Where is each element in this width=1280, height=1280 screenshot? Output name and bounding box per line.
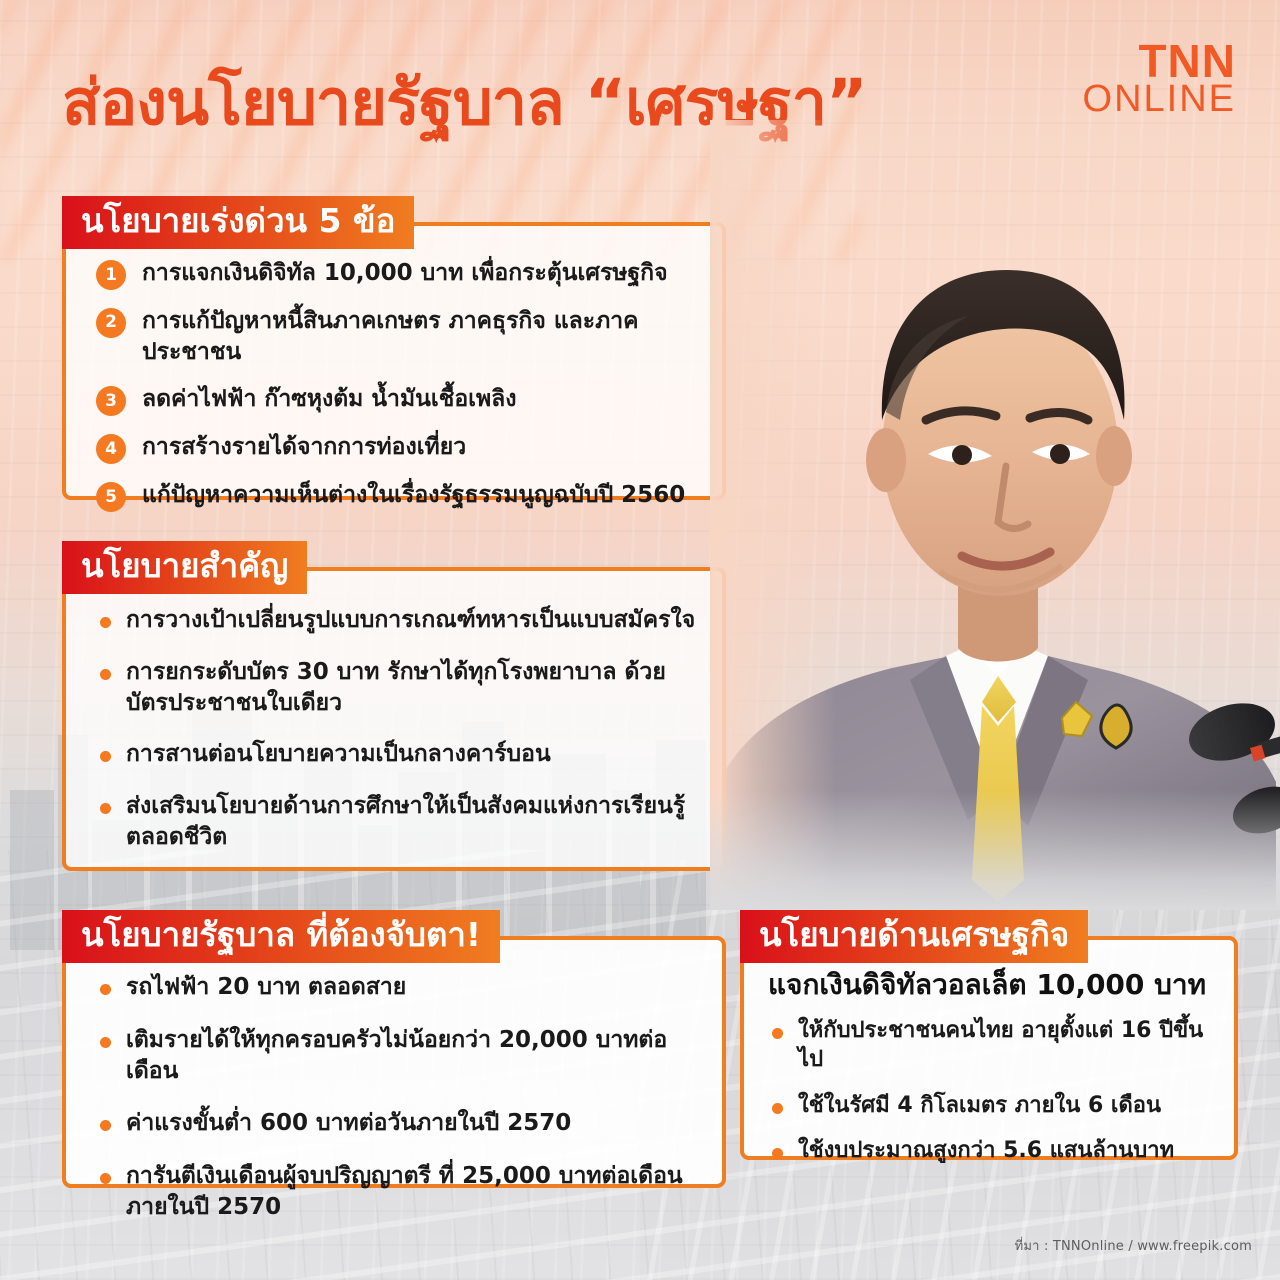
list-item: ใช้งบประมาณสูงกว่า 5.6 แสนล้านบาท: [768, 1136, 1212, 1165]
list-item: ใช้ในรัศมี 4 กิโลเมตร ภายใน 6 เดือน: [768, 1091, 1212, 1120]
list-item: 5 แก้ปัญหาความเห็นต่างในเรื่องรัฐธรรมนูญ…: [96, 480, 700, 511]
list-number: 3: [96, 386, 126, 416]
watch-policy-list: รถไฟฟ้า 20 บาท ตลอดสาย เติมรายได้ให้ทุกค…: [96, 972, 700, 1223]
card-watch-title: นโยบายรัฐบาล ที่ต้องจับตา!: [62, 910, 500, 963]
key-policy-list: การวางเป้าเปลี่ยนรูปแบบการเกณฑ์ทหารเป็นแ…: [96, 605, 700, 853]
page-title-quoted: “เศรษฐา”: [585, 66, 867, 139]
card-key-policies: นโยบายสำคัญ การวางเป้าเปลี่ยนรูปแบบการเก…: [62, 541, 726, 871]
portrait-photo: [710, 120, 1280, 910]
list-item: 1 การแจกเงินดิจิทัล 10,000 บาท เพื่อกระต…: [96, 258, 700, 289]
list-item: ส่งเสริมนโยบายด้านการศึกษาให้เป็นสังคมแห…: [96, 791, 700, 853]
tnn-online-logo: TNN ONLINE: [1083, 40, 1236, 117]
list-text: ลดค่าไฟฟ้า ก๊าซหุงต้ม น้ำมันเชื้อเพลิง: [142, 386, 517, 412]
list-item: การันตีเงินเดือนผู้จบปริญญาตรี ที่ 25,00…: [96, 1161, 700, 1223]
urgent-policy-list: 1 การแจกเงินดิจิทัล 10,000 บาท เพื่อกระต…: [96, 258, 700, 511]
list-number: 5: [96, 482, 126, 512]
card-urgent-policies: นโยบายเร่งด่วน 5 ข้อ 1 การแจกเงินดิจิทัล…: [62, 196, 726, 500]
page-title-main: ส่องนโยบายรัฐบาล: [62, 66, 564, 139]
card-watch-body: รถไฟฟ้า 20 บาท ตลอดสาย เติมรายได้ให้ทุกค…: [62, 910, 726, 1265]
list-text: การแก้ปัญหาหนี้สินภาคเกษตร ภาคธุรกิจ และ…: [142, 308, 639, 365]
logo-line-tnn: TNN: [1083, 40, 1236, 82]
list-item: การวางเป้าเปลี่ยนรูปแบบการเกณฑ์ทหารเป็นแ…: [96, 605, 700, 636]
list-item: รถไฟฟ้า 20 บาท ตลอดสาย: [96, 972, 700, 1003]
list-item: การยกระดับบัตร 30 บาท รักษาได้ทุกโรงพยาบ…: [96, 657, 700, 719]
page-title: ส่องนโยบายรัฐบาล “เศรษฐา”: [62, 52, 867, 152]
econ-lead-text: แจกเงินดิจิทัลวอลเล็ต 10,000 บาท: [768, 968, 1212, 1002]
card-policies-to-watch: นโยบายรัฐบาล ที่ต้องจับตา! รถไฟฟ้า 20 บา…: [62, 910, 726, 1188]
list-text: แก้ปัญหาความเห็นต่างในเรื่องรัฐธรรมนูญฉบ…: [142, 482, 685, 508]
list-item: 2 การแก้ปัญหาหนี้สินภาคเกษตร ภาคธุรกิจ แ…: [96, 306, 700, 368]
list-number: 2: [96, 308, 126, 338]
card-econ-title: นโยบายด้านเศรษฐกิจ: [740, 910, 1088, 963]
list-text: การสร้างรายได้จากการท่องเที่ยว: [142, 434, 466, 460]
infographic-canvas: ส่องนโยบายรัฐบาล “เศรษฐา” TNN ONLINE นโย…: [0, 0, 1280, 1280]
list-number: 1: [96, 260, 126, 290]
econ-policy-list: ให้กับประชาชนคนไทย อายุตั้งแต่ 16 ปีขึ้น…: [768, 1016, 1212, 1166]
logo-line-online: ONLINE: [1083, 82, 1236, 117]
list-item: ให้กับประชาชนคนไทย อายุตั้งแต่ 16 ปีขึ้น…: [768, 1016, 1212, 1075]
list-number: 4: [96, 434, 126, 464]
list-item: 3 ลดค่าไฟฟ้า ก๊าซหุงต้ม น้ำมันเชื้อเพลิง: [96, 384, 700, 415]
list-item: 4 การสร้างรายได้จากการท่องเที่ยว: [96, 432, 700, 463]
card-urgent-title: นโยบายเร่งด่วน 5 ข้อ: [62, 196, 414, 249]
list-item: ค่าแรงขั้นต่ำ 600 บาทต่อวันภายในปี 2570: [96, 1108, 700, 1139]
list-item: การสานต่อนโยบายความเป็นกลางคาร์บอน: [96, 739, 700, 770]
source-credit: ที่มา : TNNOnline / www.freepik.com: [1015, 1235, 1252, 1256]
card-key-title: นโยบายสำคัญ: [62, 541, 307, 594]
card-economic-policy: นโยบายด้านเศรษฐกิจ แจกเงินดิจิทัลวอลเล็ต…: [740, 910, 1238, 1160]
list-text: การแจกเงินดิจิทัล 10,000 บาท เพื่อกระตุ้…: [142, 260, 668, 286]
list-item: เติมรายได้ให้ทุกครอบครัวไม่น้อยกว่า 20,0…: [96, 1025, 700, 1087]
